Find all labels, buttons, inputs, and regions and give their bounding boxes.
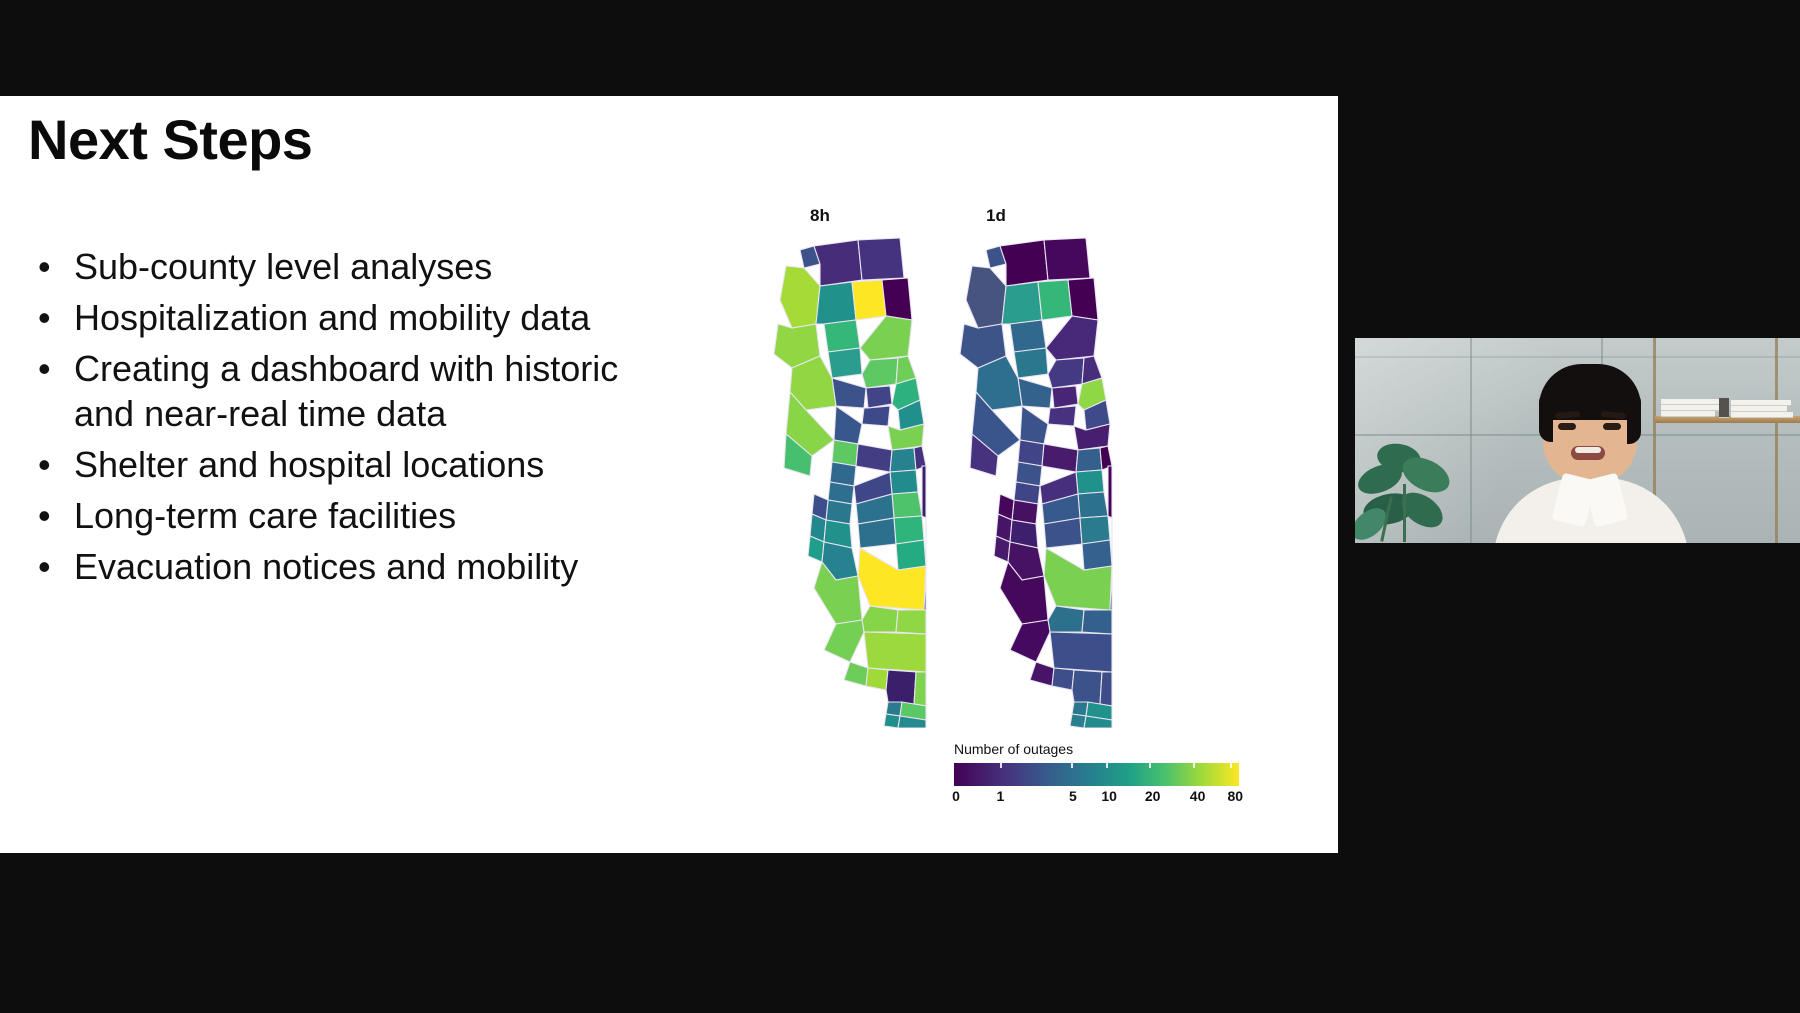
book-icon xyxy=(1731,412,1793,418)
county-shasta xyxy=(852,280,886,320)
screen-share-view: Next Steps • Sub-county level analyses •… xyxy=(0,0,1800,1013)
legend-tick-40: 40 xyxy=(1190,788,1206,804)
county-mono xyxy=(1108,466,1112,518)
county-san-luis-obispo xyxy=(1010,620,1050,662)
county-ventura xyxy=(866,668,888,690)
county-mono xyxy=(922,466,926,518)
list-item-label: Shelter and hospital locations xyxy=(74,444,544,485)
county-sacramento xyxy=(1042,444,1078,472)
county-mariposa xyxy=(1080,516,1110,544)
county-plumas xyxy=(1046,316,1098,360)
county-kings xyxy=(862,606,898,632)
bullet-marker: • xyxy=(38,442,51,487)
county-madera xyxy=(896,540,926,570)
map-panel-1d xyxy=(960,238,1112,728)
county-yuba xyxy=(1052,386,1078,408)
county-kern xyxy=(864,632,926,672)
county-amador xyxy=(1076,448,1102,472)
county-merced xyxy=(1044,518,1082,548)
legend-tick-20: 20 xyxy=(1145,788,1161,804)
county-tulare xyxy=(896,610,926,634)
list-item: • Long-term care facilities xyxy=(26,493,666,538)
county-tehama xyxy=(1010,320,1046,352)
legend-tick-0: 0 xyxy=(952,788,960,804)
county-tuolumne xyxy=(1078,492,1108,518)
county-san-diego xyxy=(884,714,900,728)
county-humboldt xyxy=(966,266,1006,328)
county-butte xyxy=(1048,358,1084,388)
county-yolo xyxy=(834,406,862,444)
county-los-angeles xyxy=(1072,670,1102,704)
list-item: • Sub-county level analyses xyxy=(26,244,666,289)
county-los-angeles xyxy=(886,670,916,704)
county-modoc xyxy=(858,238,904,280)
legend-tick-labels: 01510204080 xyxy=(954,786,1244,808)
county-sutter xyxy=(1048,406,1076,426)
county-santa-barbara xyxy=(1030,662,1054,686)
legend-tickmark xyxy=(1230,763,1232,768)
list-item-label: Hospitalization and mobility data xyxy=(74,297,590,338)
list-item-label: Evacuation notices and mobility xyxy=(74,546,578,587)
participant-video-tile[interactable] xyxy=(1355,338,1800,543)
county-lassen xyxy=(882,278,912,320)
choropleth-figure: 8h 1d Number of outages 01510204080 xyxy=(740,206,1160,846)
bullet-list: • Sub-county level analyses • Hospitaliz… xyxy=(26,244,666,595)
list-item-label: Creating a dashboard with historic and n… xyxy=(74,348,618,434)
county-trinity xyxy=(816,282,856,324)
list-item-label: Sub-county level analyses xyxy=(74,246,492,287)
legend-tickmark xyxy=(1000,763,1002,768)
county-trinity xyxy=(1002,282,1042,324)
county-humboldt xyxy=(780,266,820,328)
county-calaveras xyxy=(1076,470,1104,494)
county-merced xyxy=(858,518,896,548)
county-san-bernardino xyxy=(914,672,926,706)
county-calaveras xyxy=(890,470,918,494)
county-amador xyxy=(890,448,916,472)
map-title-8h: 8h xyxy=(810,206,830,226)
county-tuolumne xyxy=(892,492,922,518)
county-kern xyxy=(1050,632,1112,672)
list-item: • Evacuation notices and mobility xyxy=(26,544,666,589)
county-modoc xyxy=(1044,238,1090,280)
county-san-bernardino xyxy=(1100,672,1112,706)
avatar xyxy=(1485,358,1695,543)
county-siskiyou xyxy=(1000,240,1048,286)
california-maps xyxy=(740,228,1160,728)
bullet-marker: • xyxy=(38,295,51,340)
legend-title: Number of outages xyxy=(954,741,1254,757)
county-butte xyxy=(862,358,898,388)
county-glenn xyxy=(828,348,862,378)
county-shasta xyxy=(1038,280,1072,320)
map-panel-8h xyxy=(774,238,926,728)
legend-colorbar xyxy=(954,763,1239,786)
book-icon xyxy=(1719,398,1729,418)
county-tulare xyxy=(1082,610,1112,634)
county-kings xyxy=(1048,606,1084,632)
legend-tick-5: 5 xyxy=(1069,788,1077,804)
county-yuba xyxy=(866,386,892,408)
legend-tickmark xyxy=(1071,763,1073,768)
plant-icon xyxy=(1355,438,1465,543)
legend-tick-1: 1 xyxy=(996,788,1004,804)
bullet-marker: • xyxy=(38,244,51,289)
county-sutter xyxy=(862,406,890,426)
legend-tickmark xyxy=(1106,763,1108,768)
county-yolo xyxy=(1020,406,1048,444)
county-colusa xyxy=(1018,378,1052,408)
bullet-marker: • xyxy=(38,544,51,589)
legend: Number of outages 01510204080 xyxy=(954,741,1254,808)
shelf-post-icon xyxy=(1775,338,1778,543)
county-sacramento xyxy=(856,444,892,472)
list-item-label: Long-term care facilities xyxy=(74,495,456,536)
list-item: • Creating a dashboard with historic and… xyxy=(26,346,666,436)
county-glenn xyxy=(1014,348,1048,378)
map-title-1d: 1d xyxy=(986,206,1006,226)
legend-tickmark xyxy=(1149,763,1151,768)
county-san-luis-obispo xyxy=(824,620,864,662)
county-colusa xyxy=(832,378,866,408)
presentation-slide: Next Steps • Sub-county level analyses •… xyxy=(0,96,1338,853)
county-siskiyou xyxy=(814,240,862,286)
legend-tick-10: 10 xyxy=(1101,788,1117,804)
county-santa-barbara xyxy=(844,662,868,686)
county-plumas xyxy=(860,316,912,360)
legend-tick-80: 80 xyxy=(1228,788,1244,804)
legend-tickmark xyxy=(1193,763,1195,768)
county-tehama xyxy=(824,320,860,352)
list-item: • Shelter and hospital locations xyxy=(26,442,666,487)
county-mariposa xyxy=(894,516,924,544)
maps-svg xyxy=(740,228,1160,728)
bullet-marker: • xyxy=(38,346,51,391)
list-item: • Hospitalization and mobility data xyxy=(26,295,666,340)
county-san-diego xyxy=(1070,714,1086,728)
county-lassen xyxy=(1068,278,1098,320)
county-madera xyxy=(1082,540,1112,570)
page-title: Next Steps xyxy=(28,112,312,168)
county-ventura xyxy=(1052,668,1074,690)
bullet-marker: • xyxy=(38,493,51,538)
